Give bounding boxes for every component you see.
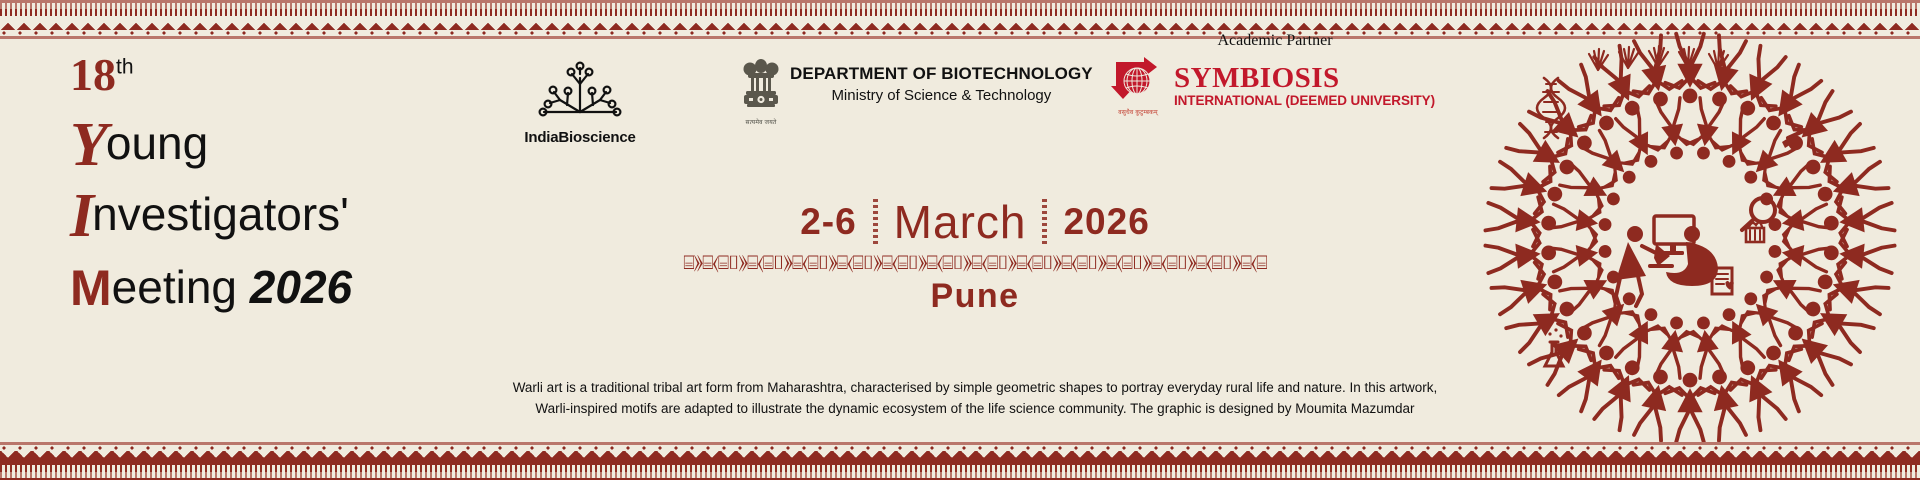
border-hatch <box>0 9 1920 16</box>
dbt-department-name: DEPARTMENT OF BIOTECHNOLOGY <box>790 64 1093 84</box>
title-line-investigators: Investigators' <box>70 191 450 238</box>
symbiosis-name: SYMBIOSIS <box>1174 64 1435 93</box>
event-month: March <box>894 195 1027 249</box>
dbt-ministry-name: Ministry of Science & Technology <box>790 87 1093 104</box>
caption-line-2: Warli-inspired motifs are adapted to ill… <box>450 399 1500 420</box>
date-divider <box>873 199 878 245</box>
symbiosis-logo[interactable]: Academic Partner <box>1110 32 1440 116</box>
title-rest-investigators: nvestigators' <box>92 188 349 240</box>
symbiosis-text-block: SYMBIOSIS INTERNATIONAL (DEEMED UNIVERSI… <box>1174 64 1435 109</box>
title-rest-young: oung <box>106 117 208 169</box>
event-year: 2026 <box>1063 201 1149 243</box>
bottom-decorative-border <box>0 442 1920 480</box>
indiabioscience-name: IndiaBioscience <box>490 129 670 146</box>
title-line-meeting: Meeting 2026 <box>70 264 450 311</box>
emblem-motto: सत्यमेव जयते <box>740 118 782 126</box>
title-year: 2026 <box>250 261 352 313</box>
conference-banner: 18th Young Investigators' Meeting 2026 <box>0 0 1920 480</box>
page-title: 18th Young Investigators' Meeting 2026 <box>70 52 450 311</box>
edition-suffix: th <box>116 56 134 79</box>
warli-circular-dance-artwork <box>1470 18 1910 458</box>
scientist-reclining <box>1666 226 1718 286</box>
symbiosis-motto: वसुधैव कुटुम्बकम् <box>1110 108 1166 116</box>
event-city: Pune <box>470 277 1480 316</box>
symbiosis-subtitle: INTERNATIONAL (DEEMED UNIVERSITY) <box>1174 94 1435 109</box>
bioscience-tree-network-icon <box>532 60 628 122</box>
warli-motif-divider: ⌸⟫⌸⟨⌸⌷⟫⌸⟨⌸⌷⟫⌸⟨⌸⌷⟫⌸⟨⌸⌷⟫⌸⟨⌸⌷⟫⌸⟨⌸⌷⟫⌸⟨⌸⌷⟫⌸⟨⌸… <box>655 253 1295 275</box>
title-cap-i: I <box>70 182 94 250</box>
title-rest-meeting: eeting <box>112 261 250 313</box>
symbiosis-mark-wrap: वसुधैव कुटुम्बकम् <box>1110 56 1166 116</box>
caption-line-1: Warli art is a traditional tribal art fo… <box>450 378 1500 399</box>
lab-bench-icon <box>1746 222 1764 242</box>
border-triangles-up <box>0 451 1920 465</box>
emblem-wrapper: सत्यमेव जयते <box>740 54 782 126</box>
artwork-caption: Warli art is a traditional tribal art fo… <box>450 378 1500 420</box>
edition-ordinal: 18th <box>70 52 450 98</box>
ashoka-lion-capital-emblem-icon <box>740 54 782 112</box>
title-cap-y: Y <box>70 111 108 179</box>
symbiosis-row: वसुधैव कुटुम्बकम् SYMBIOSIS INTERNATIONA… <box>1110 56 1440 116</box>
event-details: 2-6 March 2026 ⌸⟫⌸⟨⌸⌷⟫⌸⟨⌸⌷⟫⌸⟨⌸⌷⟫⌸⟨⌸⌷⟫⌸⟨⌸… <box>470 195 1480 316</box>
partner-logos: IndiaBioscience <box>470 46 1480 156</box>
event-dates: 2-6 <box>800 201 856 243</box>
dbt-text-block: DEPARTMENT OF BIOTECHNOLOGY Ministry of … <box>790 54 1093 104</box>
title-cap-m: M <box>70 260 112 316</box>
border-hatch <box>0 465 1920 472</box>
event-date-row: 2-6 March 2026 <box>470 195 1480 249</box>
date-divider <box>1042 199 1047 245</box>
academic-partner-label: Academic Partner <box>1110 32 1440 50</box>
symbiosis-globe-arrow-icon <box>1110 56 1166 108</box>
dbt-logo[interactable]: सत्यमेव जयते DEPARTMENT OF BIOTECHNOLOGY… <box>740 54 1100 126</box>
indiabioscience-logo[interactable]: IndiaBioscience <box>490 60 670 146</box>
edition-number: 18 <box>70 49 116 100</box>
title-line-young: Young <box>70 120 450 167</box>
